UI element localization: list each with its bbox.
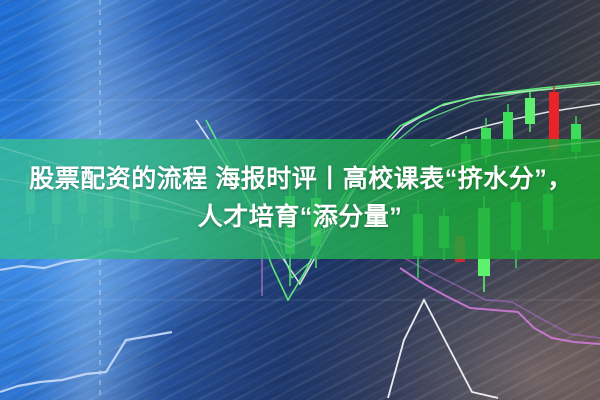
banner-image: 股票配资的流程 海报时评丨高校课表“挤水分”， 人才培育“添分量” [0, 0, 600, 400]
moving-average-line-left-lower [0, 332, 172, 392]
trend-line-white-peak [388, 300, 498, 398]
page-title: 股票配资的流程 海报时评丨高校课表“挤水分”， 人才培育“添分量” [0, 160, 600, 236]
candle-up-3 [525, 92, 535, 132]
headline-line-2: 人才培育“添分量” [0, 198, 600, 236]
trend-line-pink-lower-right [400, 268, 600, 344]
headline-line-1: 股票配资的流程 海报时评丨高校课表“挤水分”， [0, 160, 600, 198]
trend-line-purple-lower-right [404, 258, 600, 338]
